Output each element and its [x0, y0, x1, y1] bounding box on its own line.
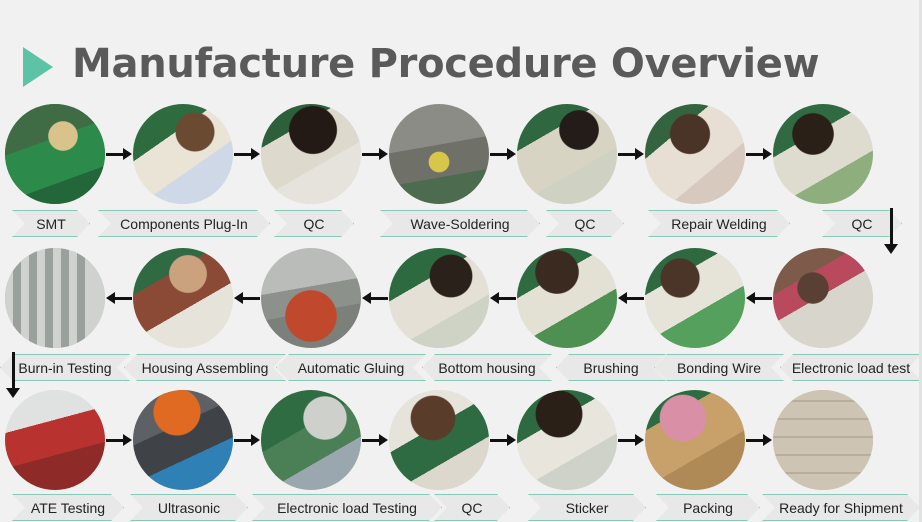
step-label-chevron[interactable]: Wave-Soldering: [380, 210, 540, 237]
flow-arrow-right-icon: [490, 434, 516, 446]
arrow-head: [234, 292, 243, 304]
arrow-head: [763, 434, 772, 446]
flow-arrow-left-icon: [618, 292, 644, 304]
flow-arrow-right-icon: [746, 434, 772, 446]
arrow-head: [635, 434, 644, 446]
step-photo-circle: [133, 390, 233, 490]
step-photo-circle: [261, 104, 361, 204]
arrow-head: [362, 292, 371, 304]
step-label-chevron[interactable]: Bonding Wire: [654, 354, 784, 381]
step-label-text: QC: [456, 500, 489, 516]
bonding-wire-photo: [645, 248, 745, 348]
arrow-head: [618, 292, 627, 304]
automatic-gluing-photo: [261, 248, 361, 348]
sticker-applying-photo: [517, 390, 617, 490]
step-photo-circle: [645, 104, 745, 204]
arrow-head: [379, 434, 388, 446]
step-label-text: Components Plug-In: [114, 216, 254, 232]
step-label-text: SMT: [30, 216, 72, 232]
step-photo-circle: [261, 248, 361, 348]
step-label-text: QC: [569, 216, 602, 232]
repair-welding-photo: [645, 104, 745, 204]
electronic-load-testing-photo: [261, 390, 361, 490]
step-label-chevron[interactable]: Packing: [656, 494, 760, 521]
step-photo-circle: [517, 104, 617, 204]
row1-to-row2-down-arrow: [884, 208, 898, 254]
arrow-head: [251, 148, 260, 160]
flow-arrow-right-icon: [234, 434, 260, 446]
bottom-housing-photo: [389, 248, 489, 348]
arrow-shaft: [625, 297, 644, 300]
step-label-text: Electronic load test: [786, 360, 916, 376]
step-photo-circle: [645, 390, 745, 490]
step-label-chevron[interactable]: SMT: [12, 210, 90, 237]
step-label-chevron[interactable]: Repair Welding: [648, 210, 790, 237]
flow-arrow-left-icon: [362, 292, 388, 304]
step-label-chevron[interactable]: Ready for Shipment: [762, 494, 920, 521]
slide-canvas: Manufacture Procedure Overview SMTCompon…: [0, 0, 922, 522]
qc-inspection-photo: [773, 104, 873, 204]
packing-cartons-photo: [645, 390, 745, 490]
burn-in-racks-photo: [5, 248, 105, 348]
flow-arrow-right-icon: [106, 148, 132, 160]
arrow-head: [507, 148, 516, 160]
step-photo-circle: [5, 390, 105, 490]
flow-arrow-right-icon: [362, 148, 388, 160]
arrow-shaft: [497, 297, 516, 300]
arrow-shaft: [12, 352, 15, 389]
flow-arrow-left-icon: [490, 292, 516, 304]
arrow-head: [746, 292, 755, 304]
step-label-chevron[interactable]: Sticker: [528, 494, 646, 521]
flow-arrow-right-icon: [618, 148, 644, 160]
step-label-chevron[interactable]: Automatic Gluing: [276, 354, 426, 381]
step-photo-circle: [645, 248, 745, 348]
housing-assembling-photo: [133, 248, 233, 348]
step-photo-circle: [5, 104, 105, 204]
page-title: Manufacture Procedure Overview: [72, 36, 819, 92]
electronic-load-test-photo: [773, 248, 873, 348]
step-label-text: Ready for Shipment: [773, 500, 909, 516]
flow-arrow-right-icon: [106, 434, 132, 446]
step-label-chevron[interactable]: QC: [546, 210, 624, 237]
qc-inspection-photo: [261, 104, 361, 204]
step-photo-circle: [261, 390, 361, 490]
flow-arrow-right-icon: [490, 148, 516, 160]
row2-to-row3-down-arrow: [6, 352, 20, 398]
step-label-text: Repair Welding: [665, 216, 772, 232]
step-label-text: Housing Assembling: [136, 360, 275, 376]
play-triangle-icon: [23, 47, 53, 87]
step-label-text: Sticker: [560, 500, 615, 516]
step-label-chevron[interactable]: Bottom housing: [422, 354, 552, 381]
step-photo-circle: [517, 390, 617, 490]
flow-arrow-right-icon: [746, 148, 772, 160]
step-photo-circle: [773, 248, 873, 348]
step-photo-circle: [5, 248, 105, 348]
step-label-text: QC: [846, 216, 879, 232]
ultrasonic-machine-photo: [133, 390, 233, 490]
step-label-chevron[interactable]: Electronic load Testing: [252, 494, 442, 521]
arrow-head: [106, 292, 115, 304]
arrow-down-icon: [6, 388, 20, 398]
step-label-text: Ultrasonic: [152, 500, 226, 516]
step-label-chevron[interactable]: ATE Testing: [12, 494, 124, 521]
qc-inspection-photo: [389, 390, 489, 490]
step-label-chevron[interactable]: QC: [434, 494, 510, 521]
arrow-shaft: [753, 297, 772, 300]
wave-soldering-machine-photo: [389, 104, 489, 204]
step-label-text: Packing: [677, 500, 739, 516]
arrow-head: [251, 434, 260, 446]
arrow-shaft: [890, 208, 893, 245]
step-photo-circle: [773, 104, 873, 204]
step-label-chevron[interactable]: Components Plug-In: [98, 210, 270, 237]
brushing-photo: [517, 248, 617, 348]
step-label-text: Bottom housing: [432, 360, 541, 376]
components-plug-in-photo: [133, 104, 233, 204]
step-photo-circle: [133, 104, 233, 204]
step-label-chevron[interactable]: Housing Assembling: [124, 354, 286, 381]
step-label-text: Automatic Gluing: [292, 360, 411, 376]
step-label-text: Bonding Wire: [671, 360, 767, 376]
flow-arrow-right-icon: [234, 148, 260, 160]
step-photo-circle: [389, 248, 489, 348]
step-photo-circle: [517, 248, 617, 348]
step-label-text: Brushing: [577, 360, 644, 376]
step-label-chevron[interactable]: Brushing: [556, 354, 666, 381]
step-label-chevron[interactable]: Ultrasonic: [130, 494, 248, 521]
arrow-head: [763, 148, 772, 160]
step-label-chevron[interactable]: Electronic load test: [780, 354, 922, 381]
arrow-head: [507, 434, 516, 446]
step-label-chevron[interactable]: QC: [274, 210, 354, 237]
arrow-head: [635, 148, 644, 160]
flow-arrow-right-icon: [618, 434, 644, 446]
arrow-head: [490, 292, 499, 304]
step-label-text: Electronic load Testing: [271, 500, 423, 516]
flow-arrow-right-icon: [362, 434, 388, 446]
step-photo-circle: [133, 248, 233, 348]
step-photo-circle: [773, 390, 873, 490]
arrow-down-icon: [884, 244, 898, 254]
arrow-head: [123, 434, 132, 446]
step-photo-circle: [389, 104, 489, 204]
qc-inspection-photo: [517, 104, 617, 204]
arrow-head: [379, 148, 388, 160]
step-label-text: ATE Testing: [25, 500, 111, 516]
flow-arrow-left-icon: [746, 292, 772, 304]
smt-machine-photo: [5, 104, 105, 204]
flow-arrow-left-icon: [106, 292, 132, 304]
arrow-shaft: [369, 297, 388, 300]
arrow-shaft: [113, 297, 132, 300]
arrow-shaft: [241, 297, 260, 300]
title-bar: Manufacture Procedure Overview: [0, 36, 922, 98]
ready-for-shipment-photo: [773, 390, 873, 490]
step-label-text: Wave-Soldering: [404, 216, 515, 232]
step-label-text: Burn-in Testing: [12, 360, 117, 376]
ate-testing-photo: [5, 390, 105, 490]
step-photo-circle: [389, 390, 489, 490]
flow-arrow-left-icon: [234, 292, 260, 304]
arrow-head: [123, 148, 132, 160]
step-label-text: QC: [298, 216, 331, 232]
